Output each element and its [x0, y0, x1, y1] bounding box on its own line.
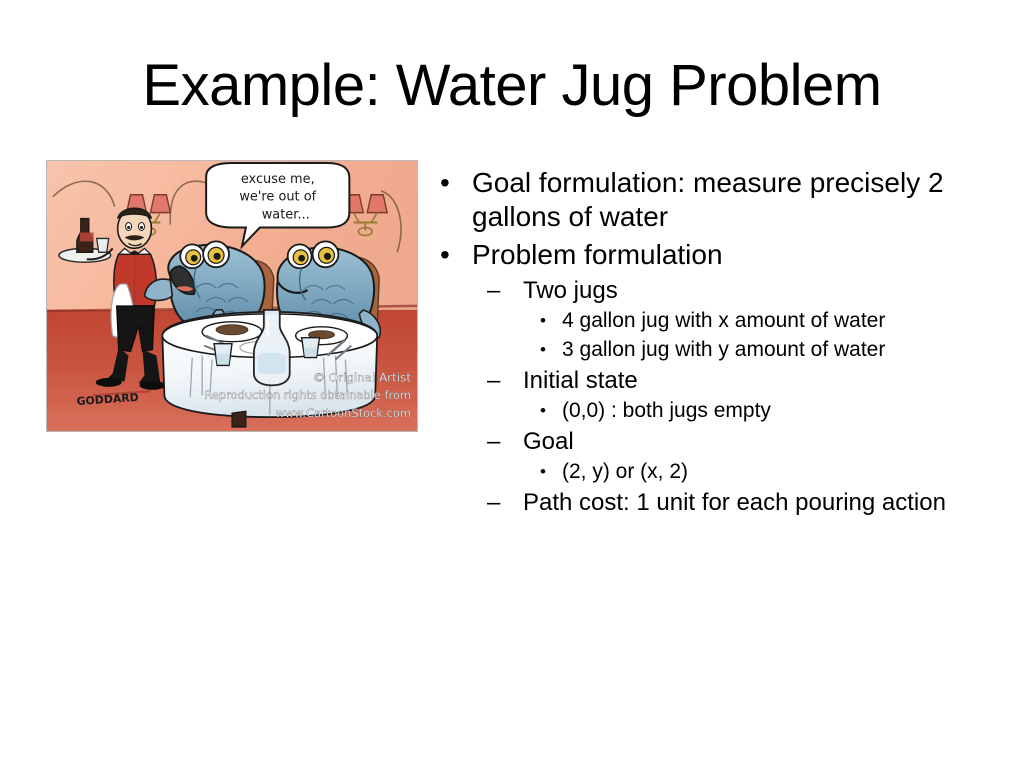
bullet-marker: • [440, 166, 450, 200]
bullet-label: Initial state [523, 366, 996, 396]
watermark-line-2: Reproduction rights obtainable from [204, 388, 411, 402]
bullet-marker: – [487, 276, 500, 306]
bullet-marker: – [487, 366, 500, 396]
bullet-label: (2, y) or (x, 2) [562, 458, 996, 486]
bullet-label: (0,0) : both jugs empty [562, 397, 996, 425]
bullet-item-goal: – Goal [436, 427, 996, 457]
bullet-label: Goal formulation: measure precisely 2 ga… [472, 166, 996, 234]
bullet-item-goal-value: • (2, y) or (x, 2) [436, 458, 996, 486]
bullet-item-path-cost: – Path cost: 1 unit for each pouring act… [436, 488, 996, 518]
bullet-item-four-gallon-jug: • 4 gallon jug with x amount of water [436, 307, 996, 335]
speech-line-1: excuse me, [241, 172, 315, 187]
bullet-marker: • [540, 397, 546, 425]
bullet-item-initial-state: – Initial state [436, 366, 996, 396]
bullet-marker: • [440, 238, 450, 272]
watermark-line-1: © Original Artist [313, 370, 411, 384]
bullet-marker: – [487, 427, 500, 457]
bullet-label: 4 gallon jug with x amount of water [562, 307, 996, 335]
bullet-marker: • [540, 336, 546, 364]
bullet-label: Problem formulation [472, 238, 996, 272]
bullet-list: • Goal formulation: measure precisely 2 … [436, 166, 996, 518]
bullet-marker: • [540, 458, 546, 486]
cartoon-illustration: excuse me, we're out of water... [47, 161, 417, 431]
bullet-label: 3 gallon jug with y amount of water [562, 336, 996, 364]
bullet-label: Path cost: 1 unit for each pouring actio… [523, 488, 996, 518]
bullet-item-initial-state-value: • (0,0) : both jugs empty [436, 397, 996, 425]
bullet-marker: – [487, 488, 500, 518]
bullet-label: Goal [523, 427, 996, 457]
speech-line-2: we're out of [239, 190, 316, 205]
cartoon-image: excuse me, we're out of water... [46, 160, 418, 432]
bullet-marker: • [540, 307, 546, 335]
bullet-label: Two jugs [523, 276, 996, 306]
bullet-item-three-gallon-jug: • 3 gallon jug with y amount of water [436, 336, 996, 364]
bullet-item-two-jugs: – Two jugs [436, 276, 996, 306]
bullet-item-problem-formulation: • Problem formulation [436, 238, 996, 272]
speech-line-3: water... [262, 208, 310, 223]
page-title: Example: Water Jug Problem [0, 52, 1024, 120]
watermark-line-3: www.CartoonStock.com [275, 406, 411, 420]
bullet-item-goal-formulation: • Goal formulation: measure precisely 2 … [436, 166, 996, 234]
